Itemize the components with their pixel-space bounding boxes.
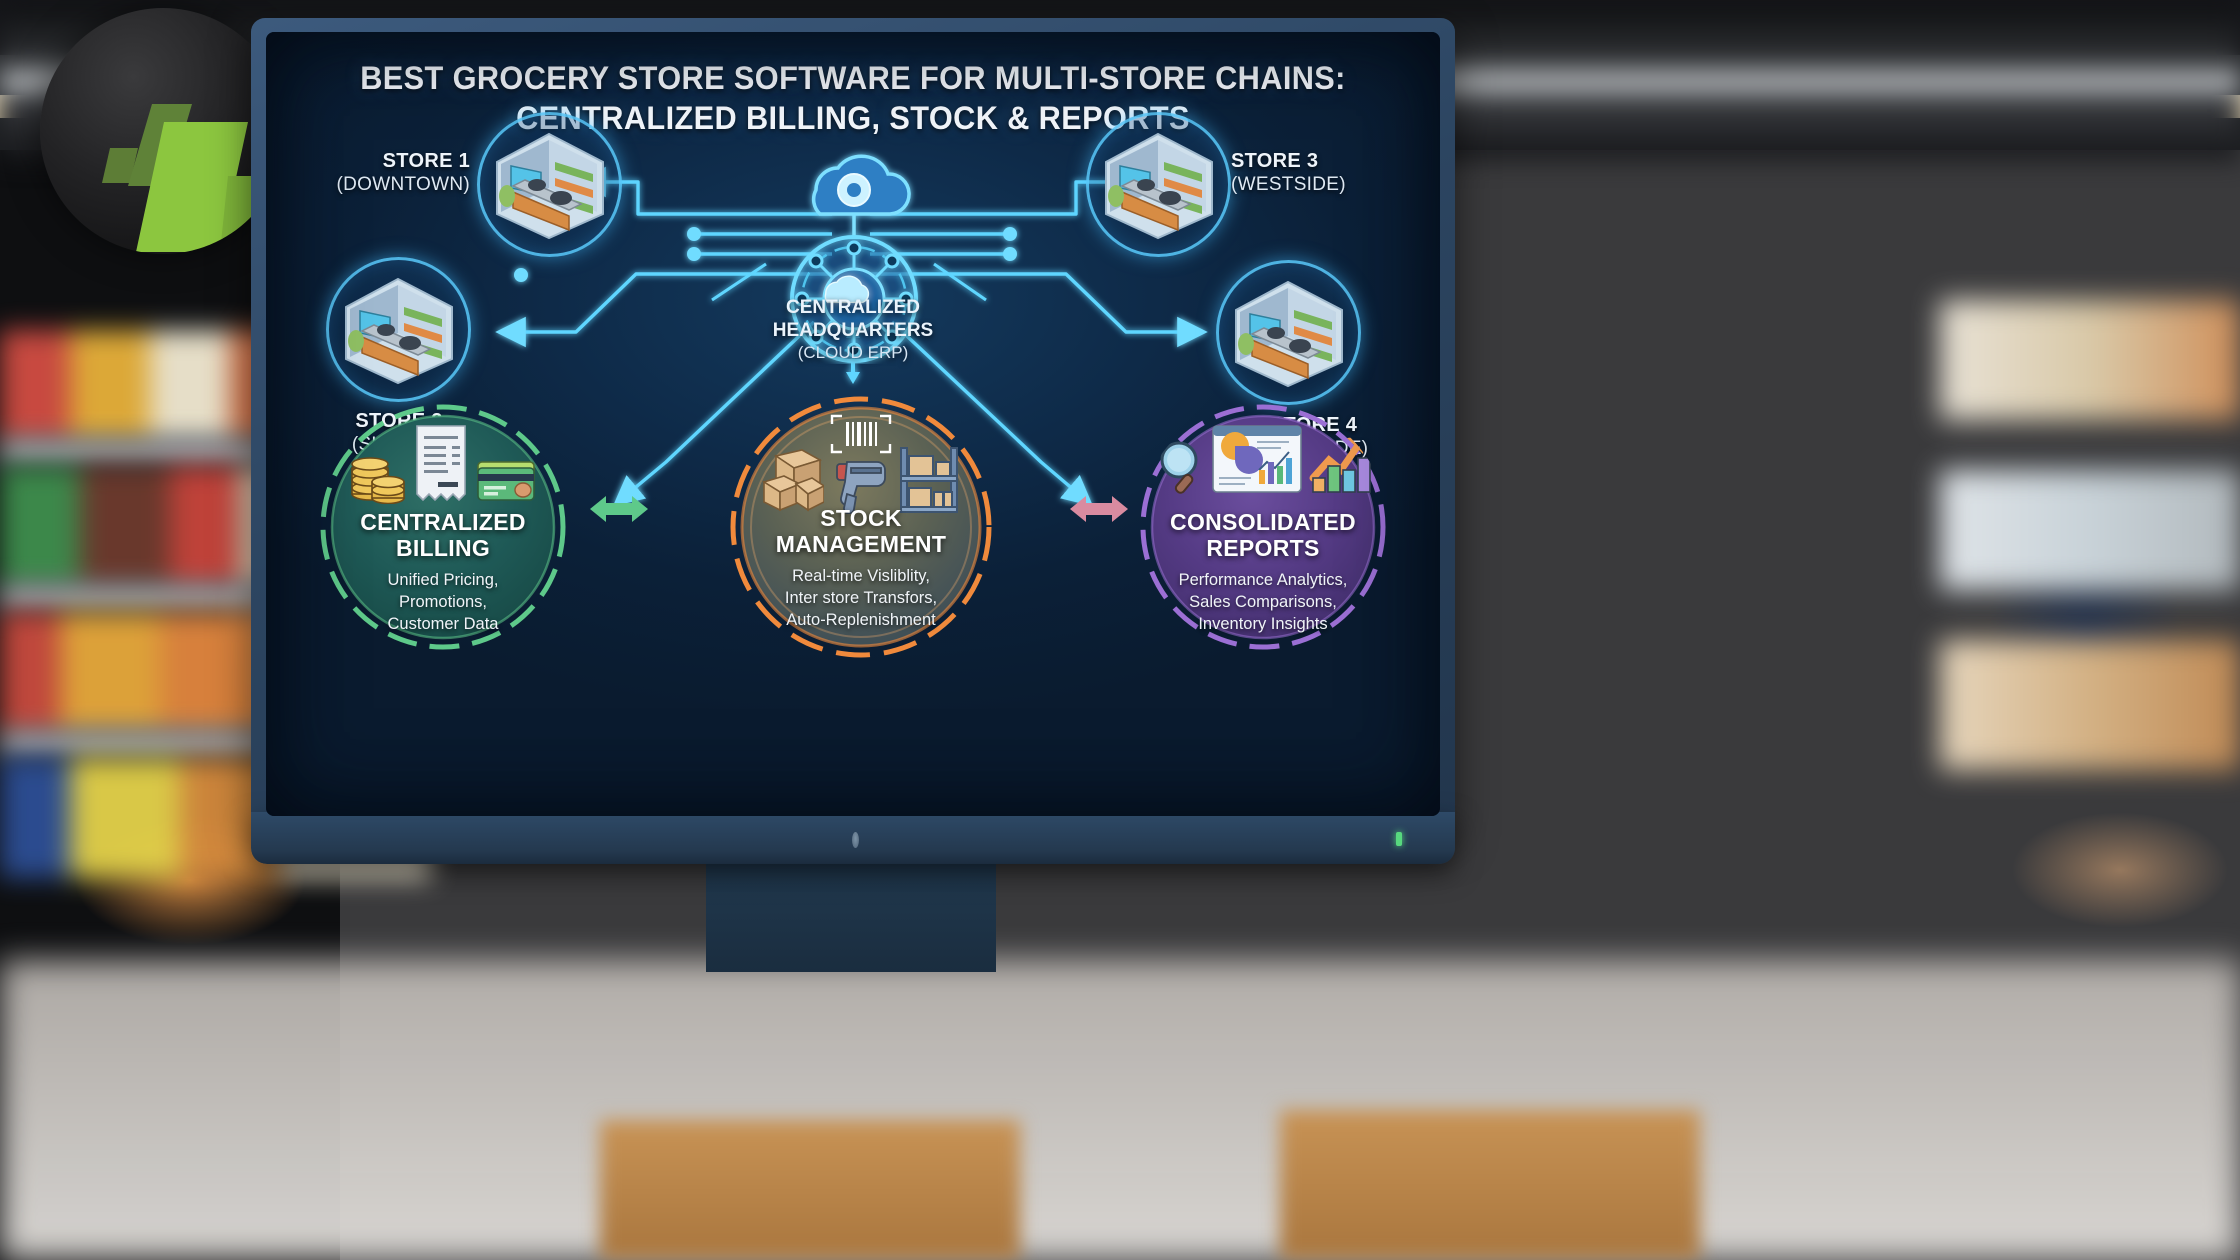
store-3-label: STORE 3 (WESTSIDE) (1231, 150, 1431, 196)
right-shelf-3 (1940, 640, 2240, 770)
power-led-icon (1396, 832, 1402, 846)
brand-logo-badge[interactable] (40, 8, 286, 254)
green-bar-chart-logo (40, 8, 286, 254)
dashboard-chart-icon (1211, 424, 1303, 496)
store-node-1[interactable] (477, 112, 667, 257)
monitor-stand (706, 862, 996, 972)
barcode-icon (830, 414, 892, 454)
store-node-4[interactable] (1216, 260, 1406, 405)
cardboard-boxes-icon (762, 444, 824, 514)
wood-counter-right (1280, 1110, 1700, 1260)
billing-stock-bidirectional-arrow (584, 484, 654, 534)
wood-counter-left (600, 1120, 1020, 1260)
reports-icons (1138, 424, 1388, 496)
store-interior-isometric-icon (483, 118, 616, 251)
store-interior-isometric-icon (1222, 266, 1355, 399)
credit-card-icon (476, 458, 536, 504)
stock-reports-bidirectional-arrow (1064, 484, 1134, 534)
store-node-2[interactable] (326, 257, 516, 402)
store-1-label: STORE 1 (DOWNTOWN) (284, 150, 470, 196)
reports-text: CONSOLIDATED REPORTS Performance Analyti… (1138, 510, 1388, 635)
stock-text: STOCK MANAGEMENT Real-time Visliblity, I… (728, 506, 994, 631)
title-line-1: BEST GROCERY STORE SOFTWARE FOR MULTI-ST… (289, 58, 1416, 98)
store-interior-isometric-icon (332, 263, 465, 396)
billing-text: CENTRALIZED BILLING Unified Pricing, Pro… (318, 510, 568, 635)
monitor-center-dot-icon (852, 832, 859, 848)
warehouse-rack-icon (898, 444, 960, 514)
store-interior-isometric-icon (1092, 118, 1225, 251)
feature-centralized-billing[interactable]: CENTRALIZED BILLING Unified Pricing, Pro… (318, 402, 568, 652)
hub-label: CENTRALIZED HEADQUARTERS (CLOUD ERP) (733, 297, 973, 363)
magnifier-icon (1155, 438, 1205, 496)
right-shelf-1 (1940, 300, 2240, 420)
feature-stock-management[interactable]: STOCK MANAGEMENT Real-time Visliblity, I… (728, 394, 994, 660)
growth-bar-arrow-icon (1309, 426, 1371, 496)
feature-consolidated-reports[interactable]: CONSOLIDATED REPORTS Performance Analyti… (1138, 402, 1388, 652)
floor-blur (0, 960, 2240, 1260)
coin-stack-icon (350, 438, 406, 504)
receipt-icon (412, 424, 470, 504)
monitor-screen: BEST GROCERY STORE SOFTWARE FOR MULTI-ST… (266, 32, 1440, 816)
stock-icons (728, 414, 994, 514)
billing-icons (318, 424, 568, 504)
right-shelf-2 (1940, 470, 2240, 590)
